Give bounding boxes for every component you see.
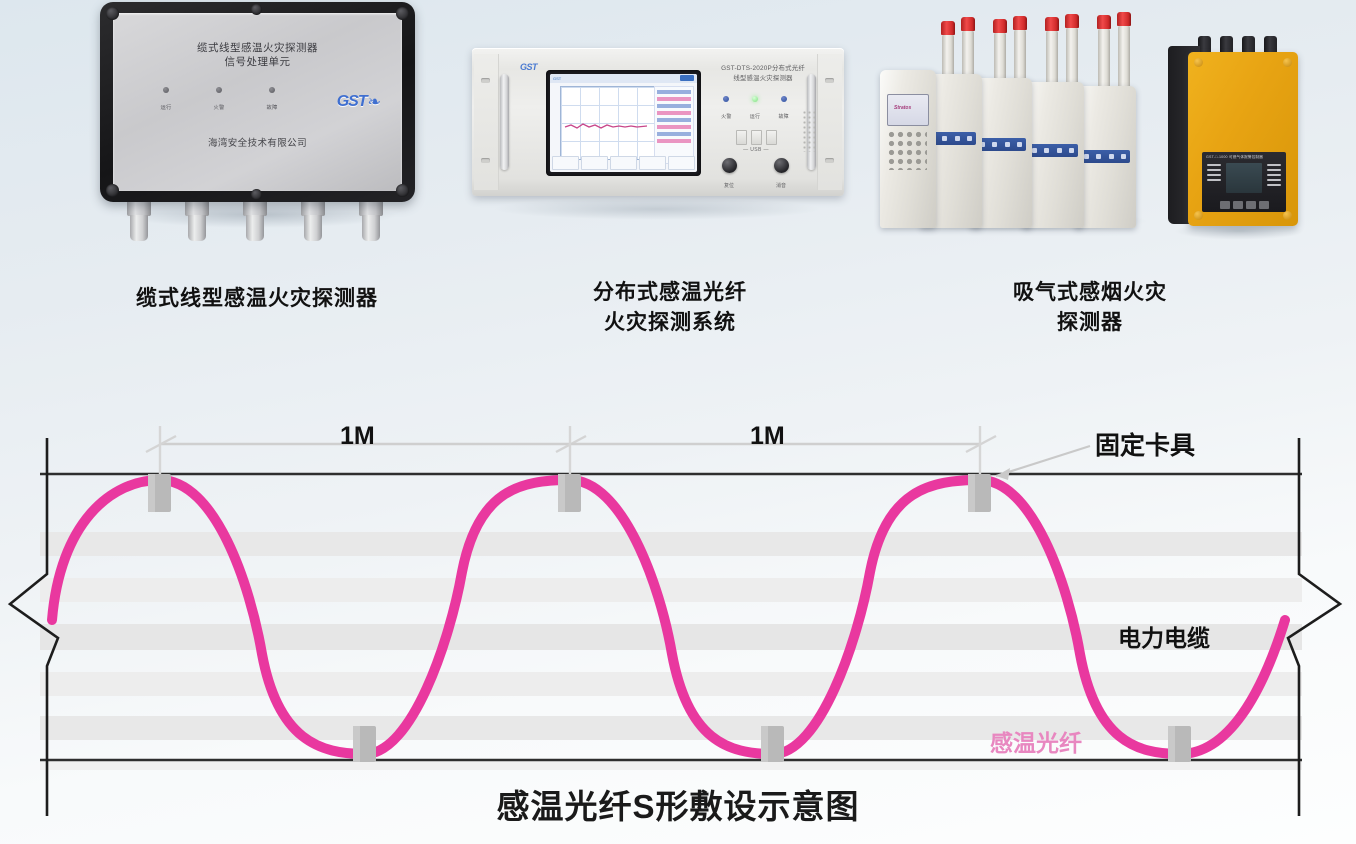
asd-main-unit: Stratos [880, 70, 936, 228]
knob-icon[interactable] [774, 158, 789, 173]
fixing-clamp-top [558, 474, 581, 512]
screen-brand-text: GST [553, 76, 561, 81]
sensing-fiber-path [52, 480, 1285, 754]
door-bolt [1194, 58, 1203, 67]
led-run-label: 运行 [161, 105, 172, 111]
cable-gland [182, 200, 212, 244]
gst-logo-text: GST [337, 93, 367, 110]
screen-button[interactable] [581, 156, 608, 170]
rack-handle-left[interactable] [500, 74, 509, 170]
caption-product-3-line1: 吸气式感烟火灾 [960, 278, 1220, 308]
model-label: GST-DTS-2020P分布式光纤 线型感温火灾探测器 [704, 64, 822, 84]
corner-screw [396, 7, 409, 20]
product-gas-alarm-controller: GST-□-1000 可燃气体报警控制器 [1168, 36, 1308, 236]
screen-status-chip [680, 75, 694, 81]
screen-surface[interactable]: GST [550, 74, 697, 172]
asd-keypad[interactable] [887, 130, 927, 170]
rack-ear-left [474, 54, 499, 190]
panel-key[interactable] [1233, 201, 1243, 209]
screen-button[interactable] [639, 156, 666, 170]
led-fault-label: 故障 [267, 105, 278, 111]
screen-titlebar: GST [550, 74, 697, 83]
fixing-clamp-top [148, 474, 171, 512]
top-screw [251, 4, 262, 15]
detector-enclosure: 缆式线型感温火灾探测器 信号处理单元 运行 火警 故障 GST❧ 海湾安全技术有… [100, 2, 415, 202]
fixing-clamp-bottom [761, 726, 784, 762]
rack-slot [825, 158, 834, 163]
panel-key[interactable] [1220, 201, 1230, 209]
led-lamp-icon [781, 96, 787, 102]
screen-readout-list [654, 86, 694, 164]
usb-port-group[interactable]: — USB — [734, 130, 778, 153]
cable-gland [124, 200, 154, 244]
usb-label: — USB — [734, 147, 778, 153]
pipe-cap-icon [993, 19, 1007, 33]
asd-indicator-panel [1080, 150, 1130, 163]
conduit-entry [1242, 36, 1255, 52]
cable-gland [298, 200, 328, 244]
asd-indicator-panel [1028, 144, 1078, 157]
fixing-clamp-top [968, 474, 991, 512]
rack-slot [481, 78, 490, 83]
led-fire-label: 火警 [214, 105, 225, 111]
gst-logo: GST [520, 62, 537, 72]
controller-front-panel: GST-□-1000 可燃气体报警控制器 [1202, 152, 1286, 212]
gst-logo: GST❧ [337, 91, 380, 111]
panel-header-text: GST-□-1000 可燃气体报警控制器 [1202, 152, 1286, 160]
conduit-entry [1220, 36, 1233, 52]
rack-slot [825, 78, 834, 83]
product-aspirating-smoke-detector: Stratos [876, 4, 1156, 236]
right-indicator-column [1267, 164, 1281, 189]
model-label-line2: 线型感温火灾探测器 [704, 74, 822, 84]
door-bolt [1283, 211, 1292, 220]
reset-knob[interactable]: 复位 [714, 158, 744, 192]
usb-ports[interactable] [734, 130, 778, 145]
door-bolt [1194, 211, 1203, 220]
sampling-pipe [1098, 28, 1110, 90]
touchscreen[interactable]: GST [546, 70, 701, 176]
led-fault: 故障 [255, 87, 289, 114]
reset-knob-label: 复位 [724, 183, 734, 189]
temperature-trace-plot [560, 86, 658, 160]
rack-chassis: GST GST [472, 48, 844, 196]
left-indicator-column [1207, 164, 1221, 184]
model-label-line1: GST-DTS-2020P分布式光纤 [704, 64, 822, 74]
knob-icon[interactable] [722, 158, 737, 173]
diagram-title: 感温光纤S形敷设示意图 [0, 780, 1356, 828]
caption-product-2-line2: 火灾探测系统 [540, 308, 800, 338]
silence-knob-label: 消音 [776, 183, 786, 189]
led-fault-label: 故障 [778, 114, 788, 120]
panel-key[interactable] [1246, 201, 1256, 209]
span-label-2: 1M [750, 422, 785, 451]
rack-slot [481, 158, 490, 163]
fixing-clamp-bottom [353, 726, 376, 762]
faceplate-title: 缆式线型感温火灾探测器 信号处理单元 [113, 41, 402, 69]
product-2-shadow [492, 198, 822, 220]
door-bolt [1283, 58, 1292, 67]
pipe-cap-icon [1045, 17, 1059, 31]
detector-faceplate: 缆式线型感温火灾探测器 信号处理单元 运行 火警 故障 GST❧ 海湾安全技术有… [113, 13, 402, 191]
screen-button[interactable] [552, 156, 579, 170]
product-distributed-fiber-system: GST GST [472, 48, 844, 198]
pipe-cap-icon [1117, 12, 1131, 26]
sampling-pipe [1118, 25, 1130, 91]
caption-product-3: 吸气式感烟火灾 探测器 [960, 278, 1220, 338]
led-fire-label: 火警 [721, 114, 731, 120]
poster-canvas: 缆式线型感温火灾探测器 信号处理单元 运行 火警 故障 GST❧ 海湾安全技术有… [0, 0, 1356, 844]
caption-product-1: 缆式线型感温火灾探测器 [62, 284, 452, 314]
led-lamp-icon [216, 87, 222, 93]
asd-lcd-text: Stratos [888, 95, 928, 111]
panel-key[interactable] [1259, 201, 1269, 209]
corner-screw [106, 7, 119, 20]
enclosure-door: GST-□-1000 可燃气体报警控制器 [1188, 52, 1298, 226]
company-name: 海湾安全技术有限公司 [113, 135, 402, 149]
led-fire: 火警 [202, 87, 236, 114]
screen-button-bar[interactable] [552, 156, 695, 170]
panel-display [1226, 163, 1262, 193]
asd-indicator-panel [976, 138, 1026, 151]
pipe-cap-icon [1097, 15, 1111, 29]
gst-fan-icon: ❧ [368, 92, 380, 112]
product-cable-linear-heat-detector: 缆式线型感温火灾探测器 信号处理单元 运行 火警 故障 GST❧ 海湾安全技术有… [100, 2, 415, 242]
screen-button[interactable] [610, 156, 637, 170]
control-knob-group[interactable]: 复位 消音 [714, 158, 796, 192]
usb-port[interactable] [766, 130, 777, 145]
pipe-cap-icon [941, 21, 955, 35]
pipe-cap-icon [1013, 16, 1027, 30]
fiber-layout-diagram: 1M 1M 固定卡具 电力电缆 感温光纤 [0, 404, 1356, 844]
span-label-1: 1M [340, 422, 375, 451]
corner-screw [396, 184, 409, 197]
led-fault: 故障 [769, 96, 798, 123]
panel-key-row[interactable] [1220, 201, 1269, 209]
ventilation-grille [802, 110, 816, 152]
led-run: 运行 [149, 87, 183, 114]
usb-port[interactable] [751, 130, 762, 145]
faceplate-title-line2: 信号处理单元 [113, 55, 402, 69]
led-fire: 火警 [712, 96, 741, 123]
asd-lcd-display: Stratos [887, 94, 929, 126]
led-lamp-icon [163, 87, 169, 93]
gst-logo-text: GST [520, 62, 537, 72]
pipe-cap-icon [961, 17, 975, 31]
bottom-screw [251, 189, 262, 200]
led-run-label: 运行 [750, 114, 760, 120]
screen-button[interactable] [668, 156, 695, 170]
product-showcase: 缆式线型感温火灾探测器 信号处理单元 运行 火警 故障 GST❧ 海湾安全技术有… [0, 0, 1356, 360]
caption-product-2: 分布式感温光纤 火灾探测系统 [540, 278, 800, 338]
corner-screw [106, 184, 119, 197]
caption-product-3-line2: 探测器 [960, 308, 1220, 338]
caption-product-1-text: 缆式线型感温火灾探测器 [62, 284, 452, 314]
silence-knob[interactable]: 消音 [766, 158, 796, 192]
led-lamp-icon [723, 96, 729, 102]
led-indicator-group: 运行 火警 故障 [149, 87, 289, 114]
cable-gland [356, 200, 386, 244]
fixing-clamp-bottom [1168, 726, 1191, 762]
trace-svg [561, 87, 657, 159]
led-lamp-icon [752, 96, 758, 102]
power-cable-label: 电力电缆 [1118, 619, 1210, 653]
led-lamp-icon [269, 87, 275, 93]
faceplate-title-line1: 缆式线型感温火灾探测器 [113, 41, 402, 55]
clamp-label: 固定卡具 [1095, 426, 1195, 462]
sensing-fiber-label: 感温光纤 [990, 724, 1082, 758]
led-indicator-group: 火警 运行 故障 [712, 96, 798, 123]
cable-gland [240, 200, 270, 244]
pipe-cap-icon [1065, 14, 1079, 28]
conduit-entry [1264, 36, 1277, 52]
usb-port[interactable] [736, 130, 747, 145]
led-run: 运行 [741, 96, 770, 123]
caption-product-2-line1: 分布式感温光纤 [540, 278, 800, 308]
